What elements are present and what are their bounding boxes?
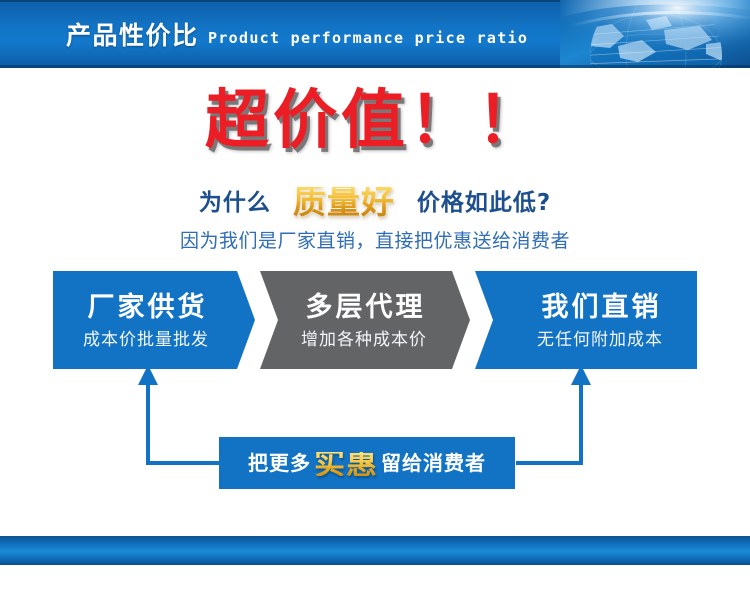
header-title-english: Product performance price ratio <box>208 29 528 48</box>
question-highlight-quality: 质量好 <box>293 187 395 217</box>
question-line: 为什么质量好价格如此低? <box>0 184 750 218</box>
header-title-chinese: 产品性价比 <box>66 22 199 50</box>
main-headline: 超价值！！ <box>0 82 750 160</box>
question-part-why: 为什么 <box>199 188 271 218</box>
banner-bottom-edge <box>0 65 750 68</box>
flow-diagram: 厂家供货 成本价批量批发 多层代理 增加各种成本价 我们直销 无任何附加成本 <box>53 271 697 369</box>
flow-box-subtitle: 成本价批量批发 <box>53 329 255 351</box>
ribbon-suffix: 留给消费者 <box>381 451 486 475</box>
arrow-right <box>516 382 581 463</box>
arrow-right-head <box>571 365 591 385</box>
flow-box-title: 我们直销 <box>475 292 697 324</box>
question-part-price: 价格如此低? <box>417 188 551 218</box>
bottom-ribbon: 把更多实惠留给消费者 <box>219 437 515 489</box>
flow-box-subtitle: 增加各种成本价 <box>260 329 470 351</box>
header-banner: 产品性价比 Product performance price ratio <box>0 0 750 68</box>
flow-box-factory-supply: 厂家供货 成本价批量批发 <box>53 271 255 369</box>
flow-box-title: 厂家供货 <box>53 292 255 324</box>
world-globe-icon <box>560 0 750 68</box>
arrow-left-head <box>138 365 158 385</box>
subtitle-text: 因为我们是厂家直销，直接把优惠送给消费者 <box>0 228 750 254</box>
footer-bar <box>0 536 750 565</box>
flow-box-multi-agent: 多层代理 增加各种成本价 <box>260 271 470 369</box>
ribbon-prefix: 把更多 <box>248 451 311 475</box>
ribbon-highlight: 实惠 <box>314 452 378 476</box>
flow-box-subtitle: 无任何附加成本 <box>475 329 697 351</box>
promo-page: 产品性价比 Product performance price ratio 超价… <box>0 0 750 590</box>
flow-box-direct-sales: 我们直销 无任何附加成本 <box>475 271 697 369</box>
flow-box-title: 多层代理 <box>260 292 470 324</box>
